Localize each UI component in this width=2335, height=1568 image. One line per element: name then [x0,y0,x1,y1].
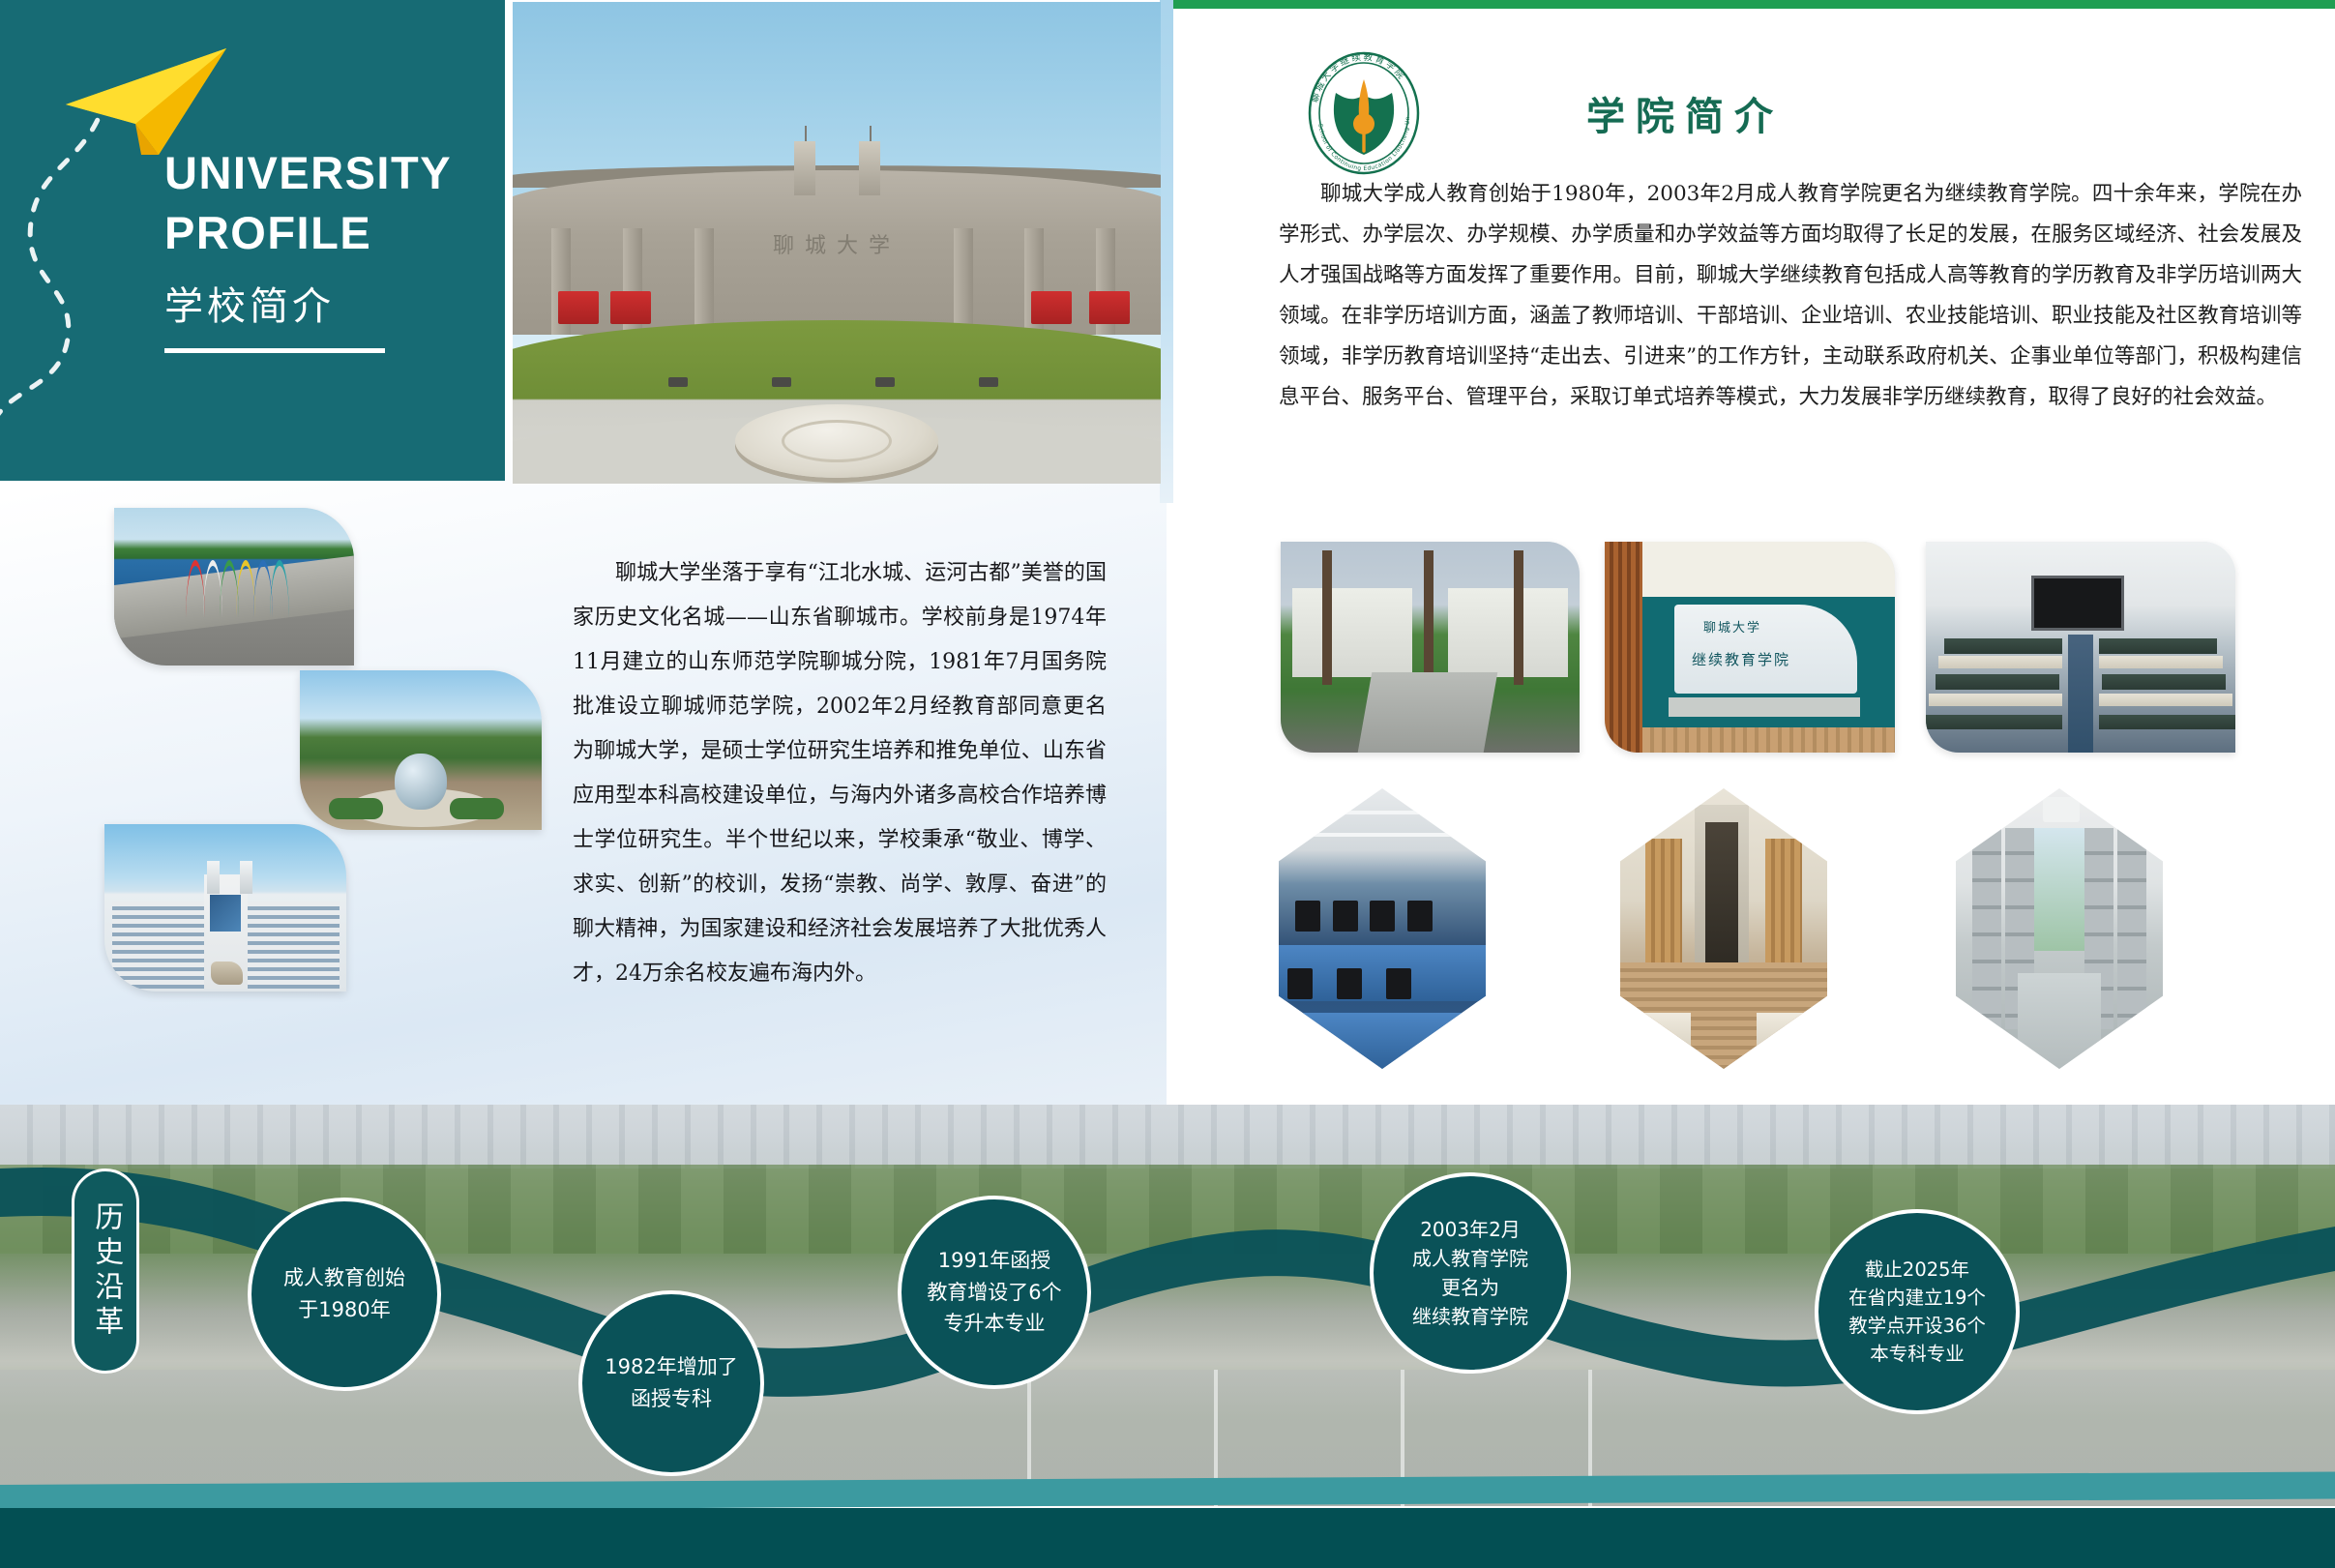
hero-lamp [668,377,688,387]
college-logo-icon: 聊城大学继续教育学院 School of Continuing Educatio… [1297,50,1431,176]
desk-row [1929,694,2062,706]
hero-column [695,228,714,335]
hero-seal-sculpture [735,404,938,478]
classroom-aisle [2068,635,2093,753]
page-title-en-line2: PROFILE [164,203,452,263]
monitor [1295,901,1320,932]
college-courtyard-photo [1281,542,1580,753]
green-top-rule [1173,0,2335,9]
timeline-node-text: 1982年增加了 函授专科 [591,1351,751,1414]
bunk-frame [1972,828,2001,1030]
air-conditioner [2043,797,2081,822]
chair-row [1944,638,2062,653]
bridge-scene [114,508,354,666]
tree-trunk [1322,550,1332,686]
timeline-node-text: 截止2025年 在省内建立19个 教学点开设36个 本专科专业 [1835,1256,1999,1369]
courtyard-building [1292,588,1412,677]
university-gate-hero-photo: 聊城大学 [513,2,1161,484]
main-teaching-building-photo [104,824,346,991]
hero-gate-tower-right [859,141,880,195]
monitor [1333,901,1358,932]
lecture-classroom-photo [1926,542,2235,753]
chair-row [2099,715,2235,729]
plaza-scene [300,670,542,830]
foreground-rock [211,962,243,985]
timeline-node-2003[interactable]: 2003年2月 成人教育学院 更名为 继续教育学院 [1370,1172,1571,1374]
classroom-display [2031,576,2124,631]
bunk-frame [2117,828,2146,1030]
page-title-text: UNIVERSITY PROFILE 学校简介 [164,143,452,353]
rainbow-bridge-photo [114,508,354,666]
entrance-scene: 聊城大学 继续教育学院 [1605,542,1895,753]
monitor [1370,901,1395,932]
college-intro-paragraph: 聊城大学成人教育创始于1980年，2003年2月成人教育学院更名为继续教育学院。… [1279,174,2302,418]
tree-trunk [1514,550,1523,686]
monitor [1386,968,1411,999]
hero-banner [1031,291,1072,324]
hero-banner [558,291,599,324]
page-title-underline [164,348,385,353]
timeline-node-1982[interactable]: 1982年增加了 函授专科 [578,1290,764,1476]
desk-row [2099,656,2223,668]
wardrobe [1645,839,1683,967]
building-glass-panel [210,895,242,932]
monitor [1337,968,1362,999]
chair-row [1936,674,2059,689]
timeline-section-label-text: 历史沿革 [88,1201,124,1341]
chair-row [2102,674,2226,689]
sphere-sculpture [395,754,447,810]
timeline-node-text: 成人教育创始 于1980年 [270,1262,419,1325]
timeline-node-text: 1991年函授 教育增设了6个 专升本专业 [913,1245,1075,1340]
hero-lamp [875,377,895,387]
signboard-line2: 继续教育学院 [1692,649,1790,669]
chair-row [1926,715,2062,729]
chair-row [2099,638,2217,653]
tree-trunk [1424,550,1434,686]
hedge [450,798,504,819]
building-spire [240,861,252,894]
open-doorway [1705,822,1738,968]
page-title-en-line1: UNIVERSITY [164,143,452,203]
desk-row [1938,656,2062,668]
timeline-node-text: 2003年2月 成人教育学院 更名为 继续教育学院 [1399,1215,1542,1331]
courtyard-scene [1281,542,1580,753]
college-entrance-signboard-photo: 聊城大学 继续教育学院 [1605,542,1895,753]
footer-bar [0,1508,2335,1568]
courtyard-walkway [1357,672,1496,753]
wooden-deck [1642,727,1895,753]
monitor [1287,968,1313,999]
desk-row [2099,694,2232,706]
building-right-wing [243,902,340,989]
campus-sculpture-plaza-photo [300,670,542,830]
classroom-scene [1926,542,2235,753]
building-left-wing [112,902,209,989]
hero-gate-inscription: 聊城大学 [773,228,901,259]
page-title-cn: 学校简介 [164,275,452,331]
hero-banner [610,291,651,324]
college-intro-title: 学院简介 [1586,85,1784,141]
hero-lamp [979,377,998,387]
dorm-window [2030,828,2088,952]
signboard-plinth [1669,697,1860,717]
hero-column [954,228,973,335]
signboard-line1: 聊城大学 [1703,617,1761,636]
ceiling-light [1295,833,1469,837]
timeline-section-label: 历史沿革 [72,1169,139,1374]
page-gutter-sliver [1160,0,1173,503]
timeline-node-1991[interactable]: 1991年函授 教育增设了6个 专升本专业 [898,1196,1091,1389]
hero-gate-tower-left [794,141,815,195]
hero-lamp [772,377,791,387]
courtyard-building [1448,588,1568,677]
wardrobe [1765,839,1803,967]
building-scene [104,824,346,991]
hero-banner [1089,291,1130,324]
university-intro-paragraph: 聊城大学坐落于享有“江北水城、运河古都”美誉的国家历史文化名城——山东省聊城市。… [573,551,1107,996]
paper-plane-icon [60,41,239,157]
timeline-node-2025[interactable]: 截止2025年 在省内建立19个 教学点开设36个 本专科专业 [1815,1209,2020,1414]
monitor [1407,901,1433,932]
hedge [329,798,383,819]
page-title-panel: UNIVERSITY PROFILE 学校简介 [0,0,505,481]
wood-louvre-wall [1605,542,1642,753]
building-spire [207,861,220,894]
timeline-node-1980[interactable]: 成人教育创始 于1980年 [248,1198,441,1391]
